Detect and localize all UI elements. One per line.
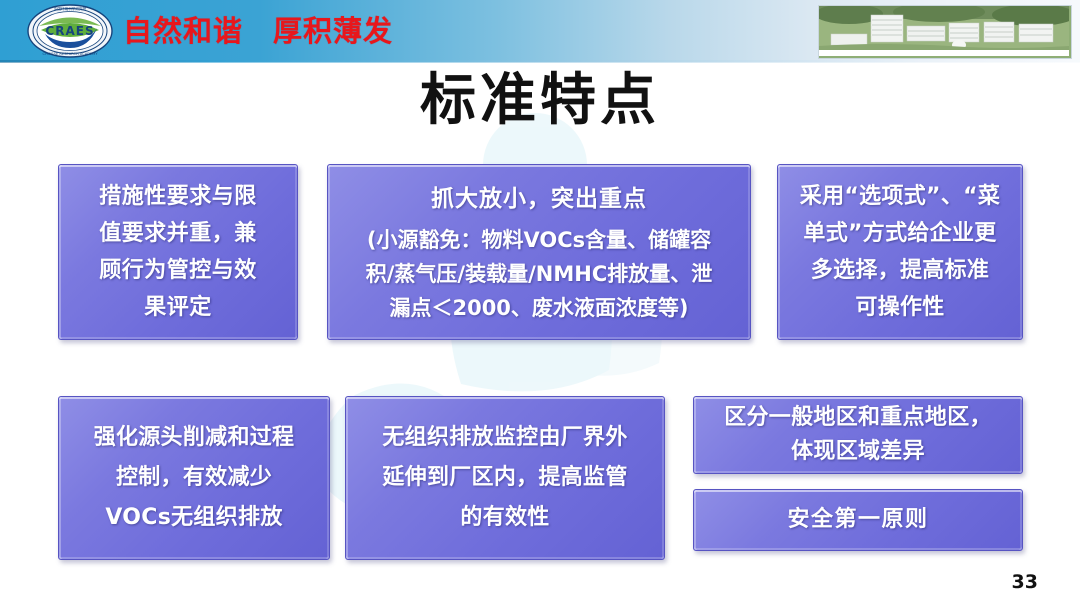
box-line: 区分一般地区和重点地区， <box>724 401 992 435</box>
feature-box-safety-first[interactable]: 安全第一原则 <box>693 489 1023 551</box>
box-line: (小源豁免：物料VOCs含量、储罐容 <box>367 223 711 257</box>
box-line: 延伸到厂区内，提高监管 <box>382 458 627 498</box>
feature-box-fugitive-emission-monitoring[interactable]: 无组织排放监控由厂界外 延伸到厂区内，提高监管 的有效性 <box>345 396 665 560</box>
feature-box-regional-differentiation[interactable]: 区分一般地区和重点地区， 体现区域差异 <box>693 396 1023 474</box>
page-number: 33 <box>1012 571 1038 593</box>
feature-box-source-reduction[interactable]: 强化源头削减和过程 控制，有效减少 VOCs无组织排放 <box>58 396 330 560</box>
svg-text:CRAES: CRAES <box>45 24 94 38</box>
campus-aerial-photo <box>818 5 1072 59</box>
feature-box-focus-on-major-sources[interactable]: 抓大放小，突出重点 (小源豁免：物料VOCs含量、储罐容 积/蒸气压/装载量/N… <box>327 164 751 340</box>
box-line: 强化源头削减和过程 <box>94 418 295 458</box>
box-line: 积/蒸气压/装载量/NMHC排放量、泄 <box>366 257 712 291</box>
box-line: 值要求并重，兼 <box>99 215 257 252</box>
page-title: 标准特点 <box>0 62 1080 138</box>
box-line: 控制，有效减少 <box>116 458 272 498</box>
box-line: 可操作性 <box>855 289 944 326</box>
box-line: 无组织排放监控由厂界外 <box>382 418 627 458</box>
slide-canvas: CRAES 中国环境科学研究院 CHINESE RESEARCH ACADEMY… <box>0 0 1080 607</box>
box-line: VOCs无组织排放 <box>105 498 282 538</box>
box-line: 采用“选项式”、“菜 <box>800 178 1000 215</box>
box-line: 体现区域差异 <box>791 435 925 469</box>
box-line: 安全第一原则 <box>787 503 928 537</box>
box-heading: 抓大放小，突出重点 <box>431 179 647 219</box>
feature-box-measures-and-limits[interactable]: 措施性要求与限 值要求并重，兼 顾行为管控与效 果评定 <box>58 164 298 340</box>
box-line: 的有效性 <box>460 498 549 538</box>
box-line: 漏点＜2000、废水液面浓度等) <box>389 291 688 325</box>
header-slogan: 自然和谐 厚积薄发 <box>123 12 393 50</box>
svg-text:CHINESE RESEARCH ACADEMY: CHINESE RESEARCH ACADEMY <box>42 52 98 56</box>
box-line: 果评定 <box>144 289 212 326</box>
box-line: 单式”方式给企业更 <box>803 215 996 252</box>
box-line: 措施性要求与限 <box>99 178 257 215</box>
feature-box-optional-menu-style[interactable]: 采用“选项式”、“菜 单式”方式给企业更 多选择，提高标准 可操作性 <box>777 164 1023 340</box>
svg-text:中国环境科学研究院: 中国环境科学研究院 <box>54 6 87 11</box>
craes-logo-icon: CRAES 中国环境科学研究院 CHINESE RESEARCH ACADEMY <box>27 4 113 58</box>
box-line: 顾行为管控与效 <box>99 252 257 289</box>
box-line: 多选择，提高标准 <box>811 252 989 289</box>
